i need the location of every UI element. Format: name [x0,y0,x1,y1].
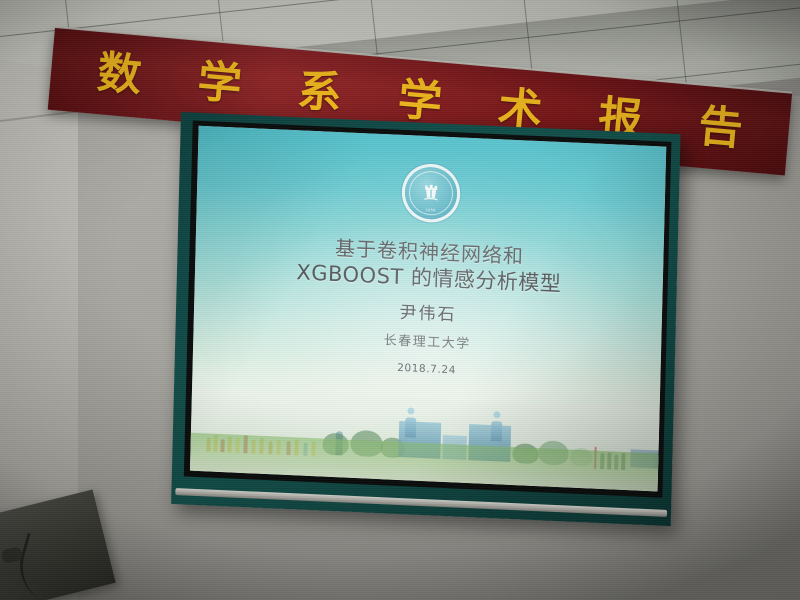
slide-text-block: 基于卷积神经网络和 XGBOOST 的情感分析模型 尹伟石 长春理工大学 201… [193,229,664,385]
emblem-founded-year: 1958 [425,208,435,212]
banner-char-4: 学 [396,78,444,126]
screen-black-border: 1958 基于卷积神经网络和 XGBOOST 的情感分析模型 尹伟石 长春理工大… [184,121,672,498]
screen-surface: 1958 基于卷积神经网络和 XGBOOST 的情感分析模型 尹伟石 长春理工大… [190,126,666,492]
banner-char-3: 系 [296,69,344,117]
emblem-tower-icon [420,181,443,204]
projection-screen: 1958 基于卷积神经网络和 XGBOOST 的情感分析模型 尹伟石 长春理工大… [171,112,681,526]
presentation-slide: 1958 基于卷积神经网络和 XGBOOST 的情感分析模型 尹伟石 长春理工大… [190,126,666,492]
banner-char-7: 告 [696,105,744,153]
banner-char-2: 学 [196,60,244,108]
banner-char-1: 数 [95,51,143,99]
lecture-hall-photo: 数 学 系 学 术 报 告 [0,0,800,600]
